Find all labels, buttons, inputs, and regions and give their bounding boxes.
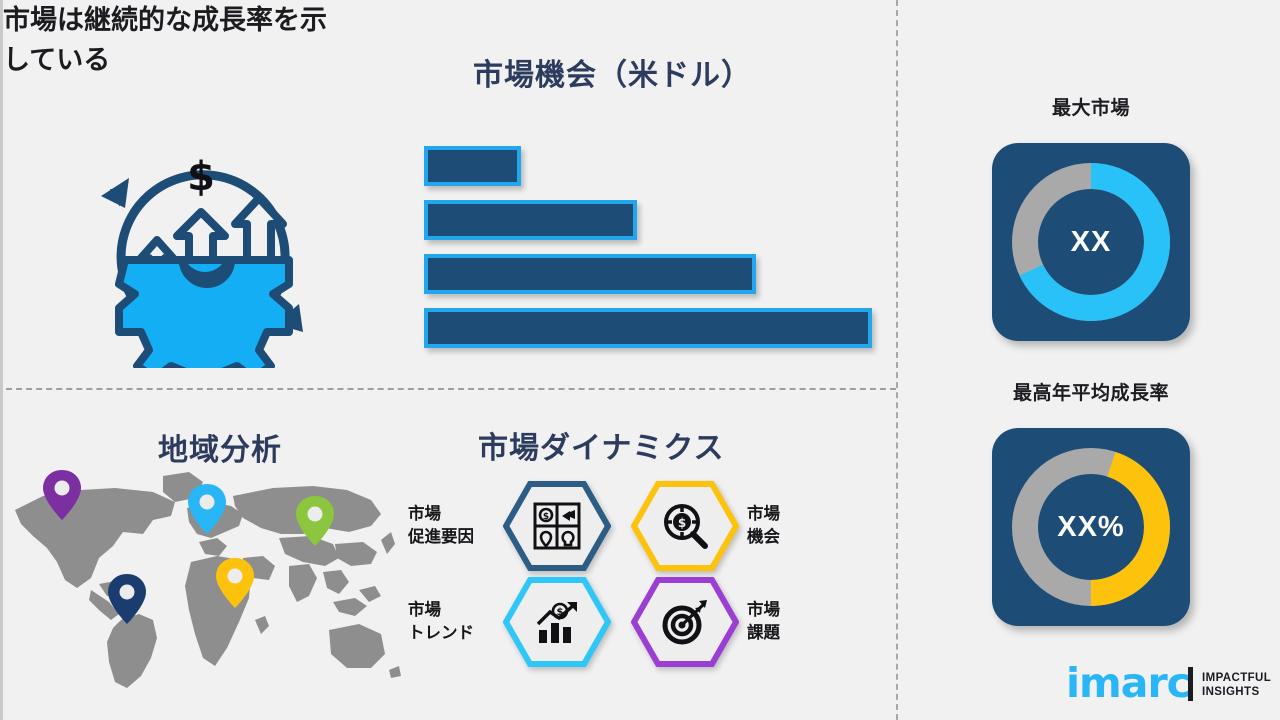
dynamics-label: 市場 機会 <box>739 503 834 549</box>
bar-segment <box>424 308 872 348</box>
slide-canvas: 市場は継続的な成長率を示している $ 市場機会（米ドル） 地域分析 <box>0 0 1280 720</box>
dynamics-panel-title: 市場ダイナミクス <box>478 423 725 467</box>
bar-segment <box>424 200 637 240</box>
map-pin-middle-east-africa <box>214 556 256 610</box>
bar-segment <box>424 254 756 294</box>
bar-chart-growth-icon: $ <box>533 598 581 646</box>
largest-market-label: 最大市場 <box>946 93 1236 120</box>
dynamics-label: 市場 トレンド <box>408 599 503 645</box>
map-pin-north-america <box>41 468 83 522</box>
opportunity-panel-title: 市場機会（米ドル） <box>473 50 752 94</box>
largest-market-card: XX <box>992 143 1190 341</box>
map-pin-east-asia <box>294 494 336 548</box>
imarc-tagline: IMPACTFUL INSIGHTS <box>1202 671 1271 699</box>
vertical-divider <box>896 0 898 720</box>
bar-row <box>424 254 884 294</box>
svg-text:$: $ <box>678 516 686 530</box>
horizontal-divider <box>6 388 896 390</box>
dynamics-item-opportunities[interactable]: $ 市場 機会 <box>631 478 853 574</box>
highest-cagr-value: XX% <box>992 428 1190 626</box>
dynamics-item-trends[interactable]: 市場 トレンド $ <box>408 574 630 670</box>
dynamics-item-challenges[interactable]: 市場 課題 <box>631 574 853 670</box>
imarc-logo: imarc IMPACTFUL INSIGHTS <box>1066 657 1271 709</box>
bar-row <box>424 200 884 240</box>
logo-divider-bar <box>1188 667 1193 701</box>
growth-cycle-gear-icon: $ <box>81 128 321 368</box>
svg-text:$: $ <box>187 154 215 200</box>
largest-market-value: XX <box>992 143 1190 341</box>
bar-row <box>424 146 884 186</box>
opportunity-bar-chart <box>424 146 884 346</box>
bar-row <box>424 308 884 348</box>
imarc-wordmark: imarc <box>1066 659 1190 707</box>
highest-cagr-label: 最高年平均成長率 <box>946 378 1236 405</box>
bar-segment <box>424 146 521 186</box>
svg-text:$: $ <box>543 512 549 522</box>
map-pin-europe <box>186 482 228 536</box>
growth-panel-title: 市場は継続的な成長率を示している <box>3 0 353 80</box>
svg-text:$: $ <box>557 607 564 618</box>
puzzle-pieces-icon: $ <box>533 502 581 550</box>
dynamics-label: 市場 促進要因 <box>408 503 503 549</box>
dynamics-grid: 市場 促進要因 $ <box>408 478 853 670</box>
map-pin-south-america <box>106 572 148 626</box>
dynamics-item-drivers[interactable]: 市場 促進要因 $ <box>408 478 630 574</box>
highest-cagr-card: XX% <box>992 428 1190 626</box>
dynamics-label: 市場 課題 <box>739 599 834 645</box>
magnifier-dollar-icon: $ <box>661 502 709 550</box>
target-dart-icon <box>661 598 709 646</box>
